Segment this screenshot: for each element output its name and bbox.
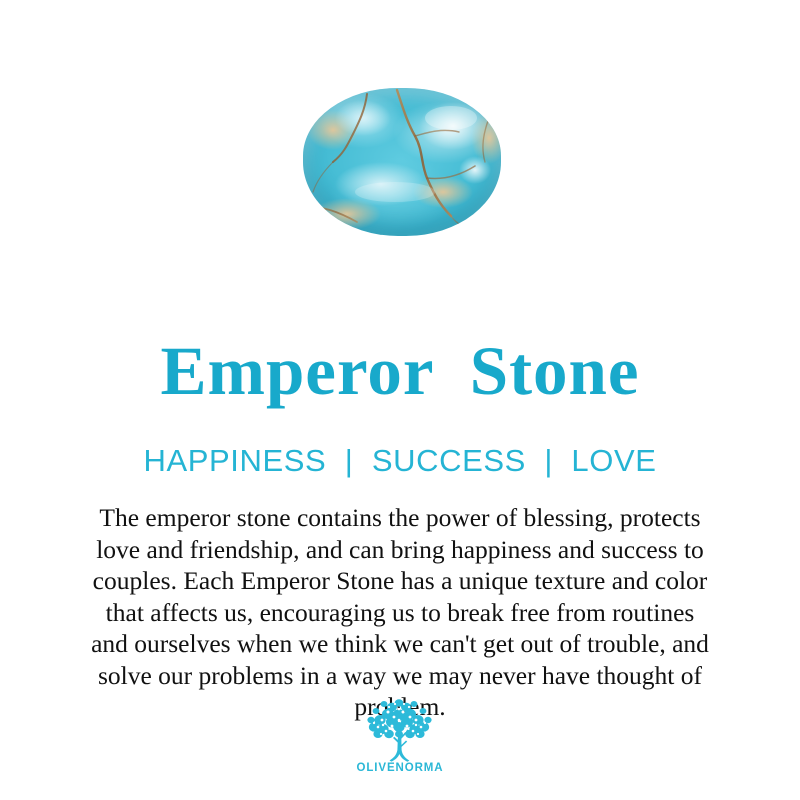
- emperor-stone-image: [303, 88, 501, 236]
- keyword-tagline: HAPPINESS | SUCCESS | LOVE: [0, 442, 800, 480]
- olive-tree-icon: [358, 698, 442, 764]
- gemstone-veining: [303, 88, 501, 236]
- brand-wordmark: OLIVENORMA: [342, 762, 458, 774]
- brand-logo: OLIVENORMA: [342, 698, 458, 788]
- product-info-card: Emperor Stone HAPPINESS | SUCCESS | LOVE…: [0, 0, 800, 800]
- description-paragraph: The emperor stone contains the power of …: [30, 502, 770, 723]
- tree-icon-glyph: [358, 698, 442, 764]
- gemstone-body: [303, 88, 501, 236]
- page-title: Emperor Stone: [0, 332, 800, 410]
